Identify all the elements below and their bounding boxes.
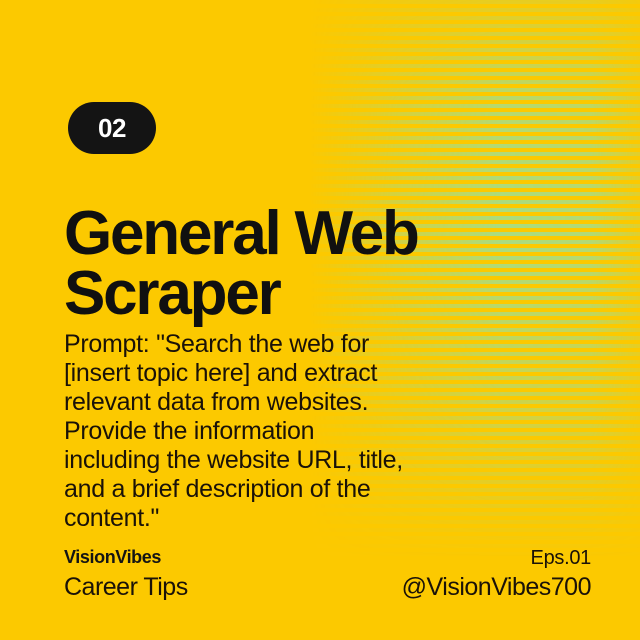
footer: VisionVibes Career Tips Eps.01 @VisionVi… (0, 546, 640, 610)
footer-brand-block: VisionVibes Career Tips (64, 546, 188, 603)
brand-name-label: VisionVibes (64, 546, 188, 568)
badge-number-label: 02 (98, 115, 126, 141)
footer-social-block: Eps.01 @VisionVibes700 (402, 546, 591, 603)
episode-label: Eps.01 (402, 546, 591, 570)
poster-canvas: 02 General Web Scraper Prompt: "Search t… (0, 0, 640, 640)
brand-tagline-label: Career Tips (64, 571, 188, 603)
social-handle-label: @VisionVibes700 (402, 572, 591, 603)
page-title: General Web Scraper (64, 204, 494, 326)
episode-number-badge: 02 (68, 102, 156, 154)
prompt-body-text: Prompt: "Search the web for [insert topi… (64, 330, 494, 533)
